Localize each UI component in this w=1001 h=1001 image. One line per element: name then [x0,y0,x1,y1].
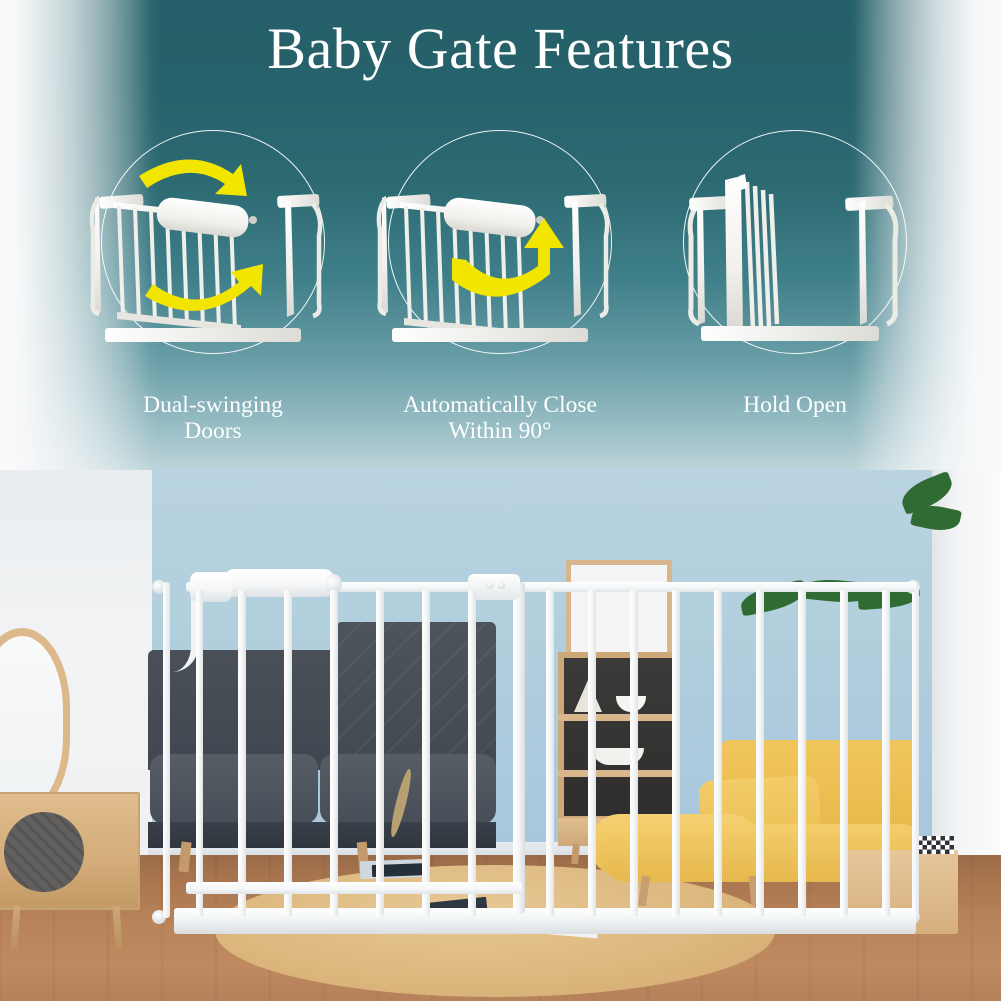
sofa-cushion [150,754,318,824]
shelf-board [558,714,680,721]
magazine [372,863,430,877]
feature-caption: Dual-swinging Doors [63,392,363,444]
sofa-back-tall [336,622,496,770]
page-title: Baby Gate Features [0,14,1001,84]
caption-line-2: Doors [63,418,363,444]
caption-line-1: Hold Open [645,392,945,418]
feature-automatically-close[interactable]: Automatically Close Within 90° [350,130,650,460]
caption-line-1: Automatically Close [350,392,650,418]
feature-caption: Automatically Close Within 90° [350,392,650,444]
framed-picture [566,560,672,658]
wooden-crate [840,850,958,934]
gate-auto-close-icon [368,152,632,360]
magazine [496,913,545,929]
sofa-seat-base [148,822,496,848]
cabinet-leg [10,906,20,950]
feature-list: Dual-swinging Doors [0,130,1001,460]
feature-caption: Hold Open [645,392,945,418]
dark-gray-sectional-sofa [148,650,496,865]
feature-hold-open[interactable]: Hold Open [645,130,945,460]
cabinet-circular-panel [4,812,84,892]
caption-line-2: Within 90° [350,418,650,444]
checker-pattern-object [918,836,954,854]
room-scene-photo [0,470,1001,1001]
cabinet-leg [112,906,122,950]
gate-dual-swing-icon [81,152,345,360]
quatrefoil-wall-mirror [0,628,70,818]
caption-line-1: Dual-swinging [63,392,363,418]
infographic-page: Baby Gate Features [0,0,1001,1001]
gate-hold-open-icon [663,152,927,360]
feature-dual-swinging-doors[interactable]: Dual-swinging Doors [63,130,363,460]
wooden-sideboard-cabinet [0,792,146,952]
